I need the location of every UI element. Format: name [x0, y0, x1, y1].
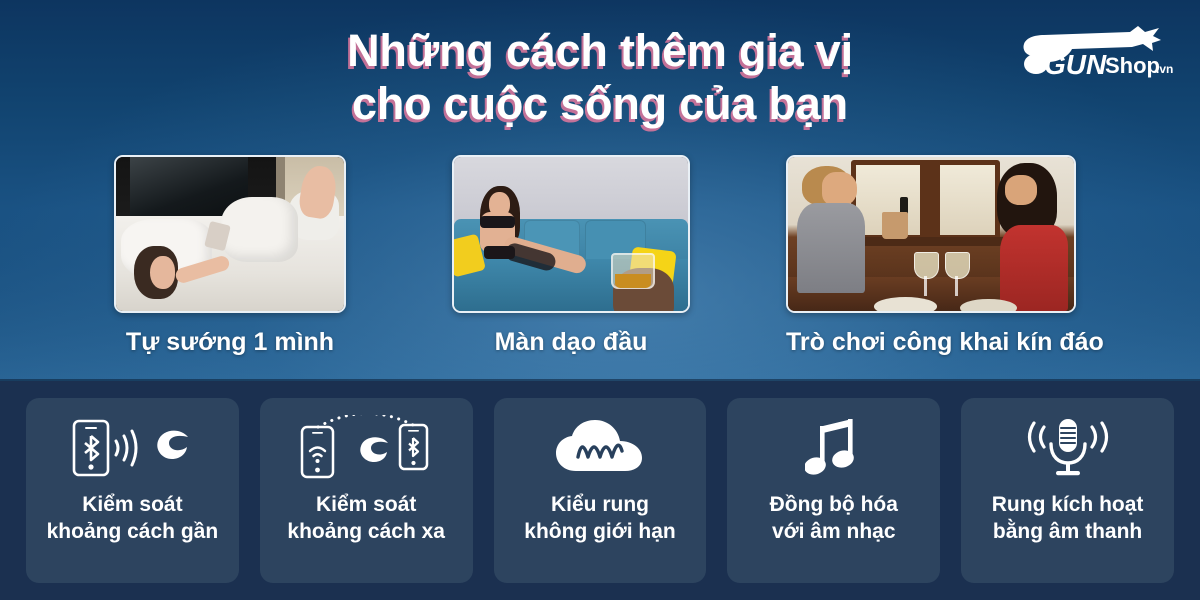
scene-woman-on-couch: [454, 157, 688, 311]
feature-label-line-1: Rung kích hoạt: [992, 492, 1144, 519]
feature-label-line-2: với âm nhạc: [770, 519, 898, 546]
feature-card-near-control[interactable]: Kiểm soát khoảng cách gần: [26, 398, 239, 583]
phone-bluetooth-waves-egg-icon: [66, 415, 198, 481]
microphone-sound-waves-icon: [1023, 415, 1113, 481]
scene-couple-dining: [788, 157, 1074, 311]
feature-card-sound-activated[interactable]: Rung kích hoạt bằng âm thanh: [961, 398, 1174, 583]
photo-row: [0, 155, 1200, 315]
two-phones-wifi-bluetooth-egg-icon: [296, 415, 436, 481]
feature-card-far-control-label: Kiểm soát khoảng cách xa: [281, 492, 451, 545]
top-hero-section: GUN Shop .vn Những cách thêm gia vị cho …: [0, 0, 1200, 381]
photo-public-discreet-play: [786, 155, 1076, 313]
feature-card-unlimited-vibration-label: Kiểu rung không giới hạn: [518, 492, 681, 545]
caption-self-pleasure: Tự sướng 1 mình: [114, 328, 346, 357]
feature-label-line-1: Kiểm soát: [287, 492, 445, 519]
feature-card-sound-activated-label: Rung kích hoạt bằng âm thanh: [986, 492, 1150, 545]
caption-foreplay: Màn dạo đầu: [452, 328, 690, 357]
caption-public-discreet-play: Trò chơi công khai kín đáo: [786, 328, 1076, 357]
feature-card-music-sync-label: Đồng bộ hóa với âm nhạc: [764, 492, 904, 545]
feature-card-music-sync[interactable]: Đồng bộ hóa với âm nhạc: [727, 398, 940, 583]
headline-line-1: Những cách thêm gia vị: [0, 28, 1200, 74]
promo-banner: GUN Shop .vn Những cách thêm gia vị cho …: [0, 0, 1200, 600]
photo-foreplay: [452, 155, 690, 313]
feature-label-line-1: Đồng bộ hóa: [770, 492, 898, 519]
feature-label-line-2: khoảng cách gần: [47, 519, 219, 546]
music-note-icon: [805, 415, 863, 481]
feature-card-near-control-label: Kiểm soát khoảng cách gần: [41, 492, 225, 545]
feature-card-unlimited-vibration[interactable]: Kiểu rung không giới hạn: [494, 398, 707, 583]
scene-woman-in-bed: [116, 157, 344, 311]
photo-self-pleasure: [114, 155, 346, 313]
feature-card-far-control[interactable]: Kiểm soát khoảng cách xa: [260, 398, 473, 583]
feature-label-line-2: khoảng cách xa: [287, 519, 445, 546]
feature-label-line-2: bằng âm thanh: [992, 519, 1144, 546]
feature-label-line-2: không giới hạn: [524, 519, 675, 546]
headline: Những cách thêm gia vị cho cuộc sống của…: [0, 28, 1200, 127]
headline-line-2: cho cuộc sống của bạn: [0, 81, 1200, 127]
photo-captions: Tự sướng 1 mình Màn dạo đầu Trò chơi côn…: [0, 328, 1200, 368]
cloud-wave-icon: [552, 415, 648, 481]
feature-label-line-1: Kiểm soát: [47, 492, 219, 519]
feature-card-list: Kiểm soát khoảng cách gần: [26, 398, 1174, 583]
features-section: Kiểm soát khoảng cách gần: [0, 381, 1200, 600]
feature-label-line-1: Kiểu rung: [524, 492, 675, 519]
